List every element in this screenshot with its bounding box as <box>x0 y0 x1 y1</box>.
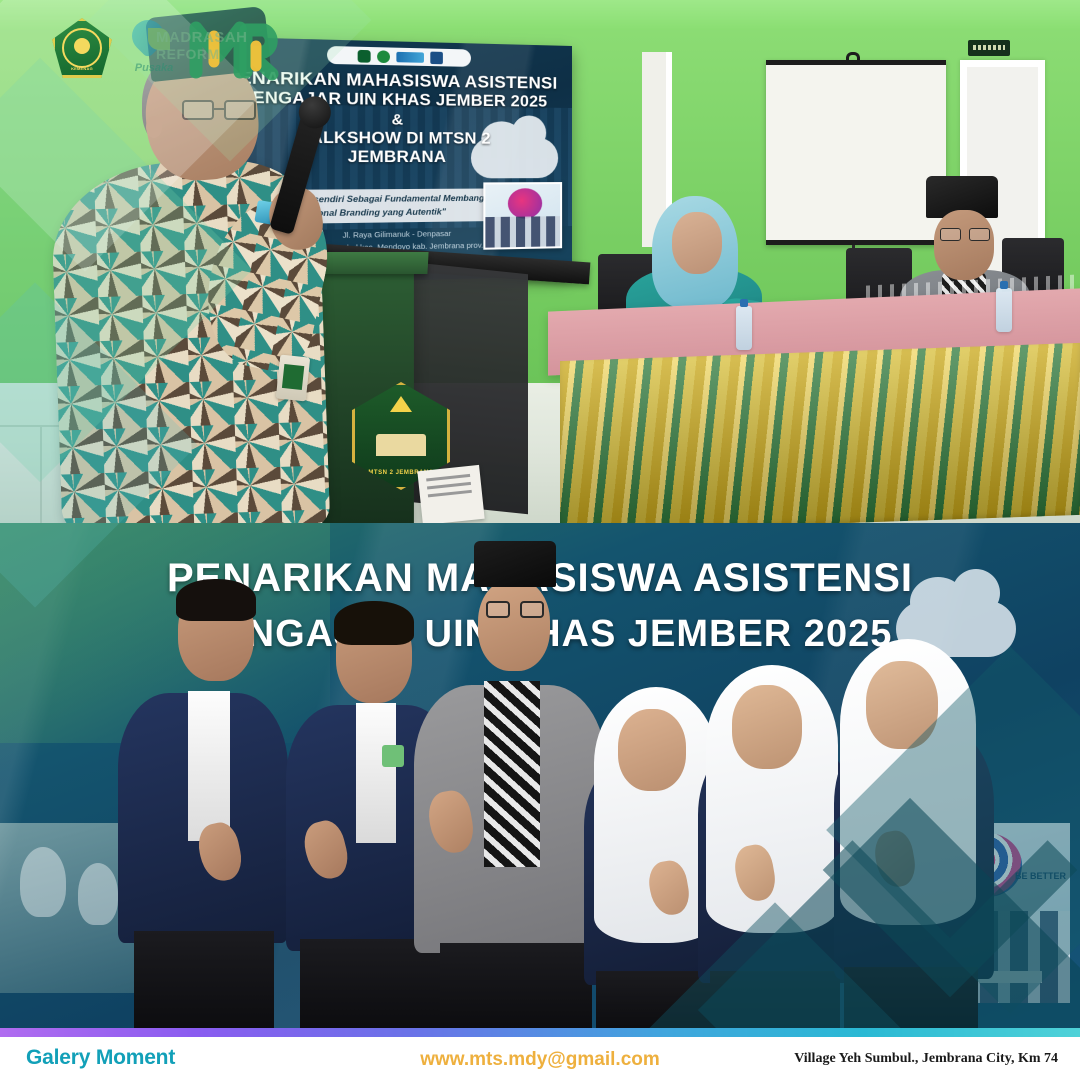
banner-inset-photo <box>483 182 562 250</box>
panelist-man-face <box>934 210 994 280</box>
gallery-collage-page: PENARIKAN MAHASISWA ASISTENSI MENGAJAR U… <box>0 0 1080 1080</box>
kemenag-logo-icon: KEMENAG <box>52 18 112 78</box>
green-mini-icon <box>377 50 390 63</box>
panelist-man-glasses-icon <box>940 228 990 241</box>
star-icon <box>390 396 412 412</box>
student-shirt <box>356 703 396 843</box>
speaker-id-tag <box>276 355 310 402</box>
uin-mini-icon <box>430 51 443 64</box>
talkshow-mini-icon <box>396 51 424 62</box>
student-head <box>478 579 550 671</box>
speaker-ear <box>146 116 162 138</box>
peci-cap <box>474 541 556 587</box>
student-skirt <box>710 971 840 1028</box>
door-sign <box>968 40 1010 56</box>
speaker-glasses-icon <box>182 100 258 120</box>
book-icon <box>376 434 426 456</box>
student-hair <box>334 601 414 645</box>
patterned-shirt <box>484 681 540 867</box>
projector-screen <box>766 60 946 245</box>
student-head <box>866 661 938 749</box>
kemenag-logo-text: KEMENAG <box>52 66 112 71</box>
logo-cluster: KEMENAG Pusaka MADRASAH REFORM <box>52 12 284 84</box>
banner-logo-strip <box>327 46 471 67</box>
student-head <box>618 709 686 791</box>
table-skirting <box>560 343 1080 523</box>
student-shirt <box>188 691 230 841</box>
water-bottle <box>996 288 1012 332</box>
banner-inset-people <box>485 216 560 248</box>
footer-address: Village Yeh Sumbul., Jembrana City, Km 7… <box>794 1051 1058 1067</box>
speaker-figure <box>42 12 342 523</box>
kemenag-mini-icon <box>357 49 370 62</box>
gradient-divider <box>0 1028 1080 1037</box>
madrasah-line2: REFORM <box>156 47 248 62</box>
student-emblem-patch <box>382 745 404 767</box>
student-hair <box>176 579 256 621</box>
madrasah-line1: MADRASAH <box>156 29 248 46</box>
student-head <box>732 685 802 769</box>
water-bottle <box>736 306 752 350</box>
pusaka-logo-text: Pusaka <box>118 62 190 74</box>
podium-paper <box>417 465 484 523</box>
glasses-icon <box>486 601 544 618</box>
footer-bar: Galery Moment www.mts.mdy@gmail.com Vill… <box>0 1037 1080 1080</box>
panelist-woman-face <box>672 212 722 274</box>
banner-inset-badge <box>508 188 542 219</box>
madrasah-reform-wordmark: MADRASAH REFORM <box>156 30 248 62</box>
student-trousers <box>440 943 592 1028</box>
student-trousers <box>134 931 274 1028</box>
